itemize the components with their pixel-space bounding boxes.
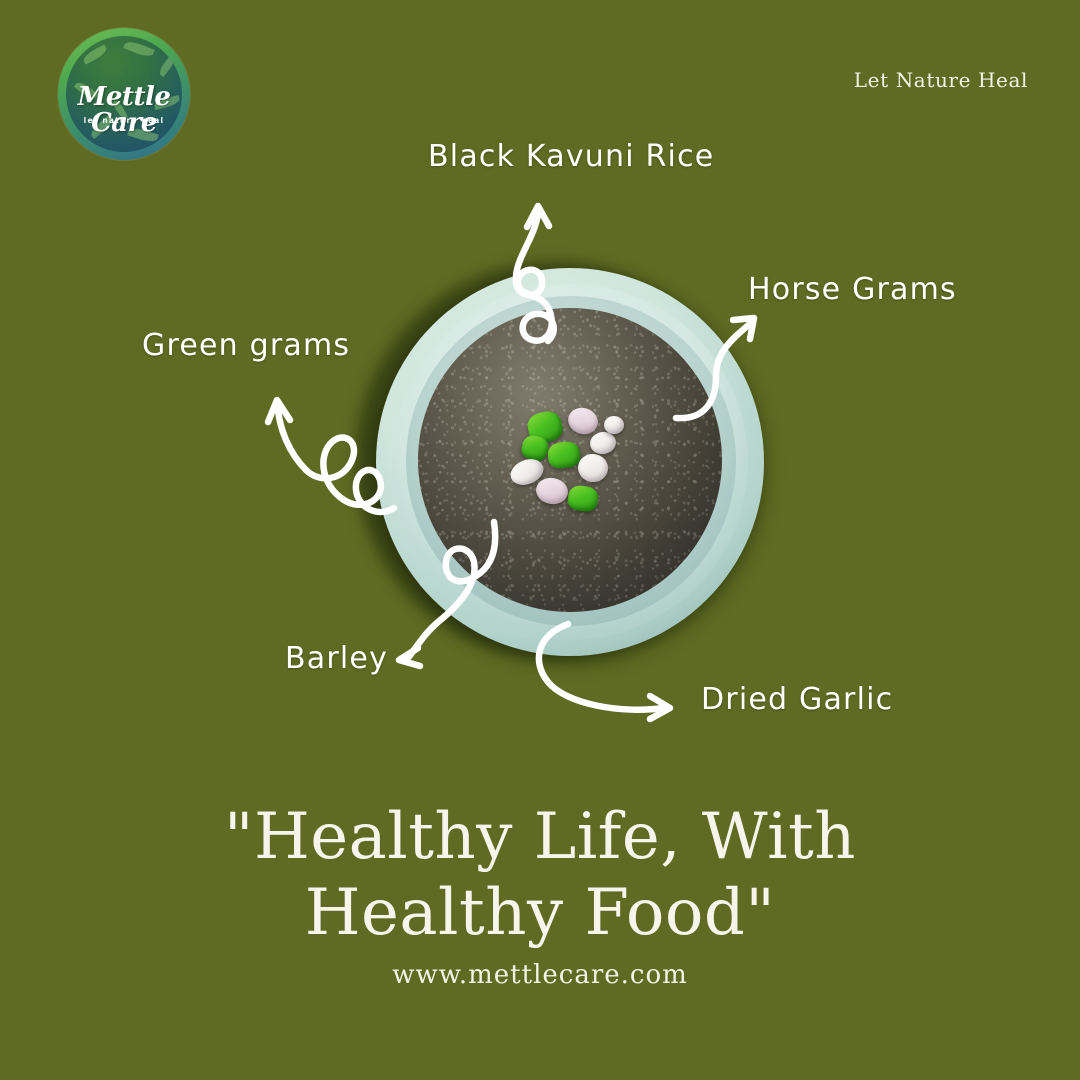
callout-label-horse-grams: Horse Grams: [748, 272, 957, 307]
callout-label-green-grams: Green grams: [142, 328, 350, 363]
porridge-surface: [418, 308, 722, 612]
logo-core: Mettle Care let nature heal: [66, 36, 182, 152]
shallot-piece: [604, 416, 624, 434]
website-url: www.mettlecare.com: [0, 960, 1080, 990]
header-slogan: Let Nature Heal: [854, 68, 1028, 92]
arrow-dried-garlic-head: [650, 696, 670, 719]
tagline-quote: "Healthy Life, With Healthy Food": [0, 800, 1080, 951]
logo-wordmark: Mettle Care: [66, 84, 182, 136]
glass-bowl: [376, 268, 764, 656]
callout-label-barley: Barley: [285, 641, 388, 676]
quote-line-1: "Healthy Life, With: [0, 800, 1080, 876]
quote-line-2: Healthy Food": [0, 876, 1080, 952]
food-photo: [330, 248, 782, 688]
poster-canvas: Mettle Care let nature heal Let Nature H…: [0, 0, 1080, 1080]
arrow-black-kavuni-rice-head: [527, 206, 549, 227]
leaf-icon: [123, 39, 155, 60]
callout-label-black-kavuni-rice: Black Kavuni Rice: [428, 139, 714, 174]
leaf-icon: [157, 55, 177, 77]
logo-tagline: let nature heal: [66, 116, 182, 125]
arrow-green-grams-head: [268, 400, 290, 422]
callout-label-dried-garlic: Dried Garlic: [701, 682, 893, 717]
brand-logo[interactable]: Mettle Care let nature heal: [58, 28, 190, 160]
